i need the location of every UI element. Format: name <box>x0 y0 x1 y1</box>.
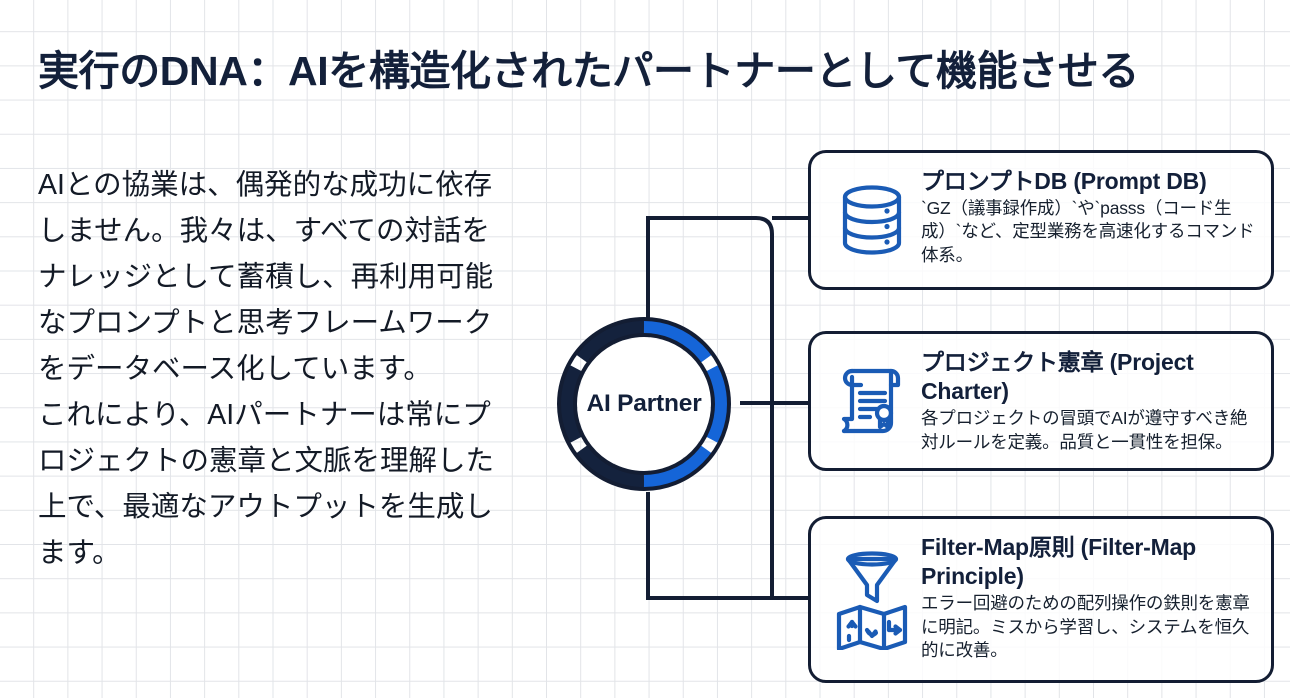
page-title: 実行のDNA：AIを構造化されたパートナーとして機能させる <box>38 47 1248 96</box>
connector-bottom <box>648 492 808 598</box>
card-filter-map-principle[interactable]: Filter-Map原則 (Filter-Map Principle) エラー回… <box>808 516 1274 683</box>
body-paragraph-block: AIとの協業は、偶発的な成功に依存しません。我々は、すべての対話をナレッジとして… <box>38 162 518 576</box>
card-project-charter[interactable]: プロジェクト憲章 (Project Charter) 各プロジェクトの冒頭でAI… <box>808 331 1274 471</box>
hub-ai-partner: AI Partner <box>548 308 740 500</box>
body-paragraph-2: これにより、AIパートナーは常にプロジェクトの憲章と文脈を理解した上で、最適なア… <box>38 392 518 576</box>
card-prompt-db[interactable]: プロンプトDB (Prompt DB) `GZ（議事録作成）`や`passs（コ… <box>808 150 1274 290</box>
card-title: Filter-Map原則 (Filter-Map Principle) <box>921 533 1255 591</box>
card-title: プロンプトDB (Prompt DB) <box>921 167 1255 196</box>
scroll-certificate-icon <box>829 363 915 439</box>
card-body: プロンプトDB (Prompt DB) `GZ（議事録作成）`や`passs（コ… <box>915 167 1255 267</box>
card-body: Filter-Map原則 (Filter-Map Principle) エラー回… <box>915 533 1255 662</box>
card-body: プロジェクト憲章 (Project Charter) 各プロジェクトの冒頭でAI… <box>915 348 1255 454</box>
hub-label: AI Partner <box>548 308 740 500</box>
funnel-map-icon <box>829 550 915 650</box>
card-description: `GZ（議事録作成）`や`passs（コード生成）`など、定型業務を高速化するコ… <box>921 197 1255 267</box>
database-icon <box>829 184 915 256</box>
card-description: 各プロジェクトの冒頭でAIが遵守すべき絶対ルールを定義。品質と一貫性を担保。 <box>921 407 1255 454</box>
body-paragraph-1: AIとの協業は、偶発的な成功に依存しません。我々は、すべての対話をナレッジとして… <box>38 162 518 392</box>
card-title: プロジェクト憲章 (Project Charter) <box>921 348 1255 406</box>
slide-canvas: 実行のDNA：AIを構造化されたパートナーとして機能させる AIとの協業は、偶発… <box>0 0 1290 698</box>
card-description: エラー回避のための配列操作の鉄則を憲章に明記。ミスから学習し、システムを恒久的に… <box>921 592 1255 662</box>
